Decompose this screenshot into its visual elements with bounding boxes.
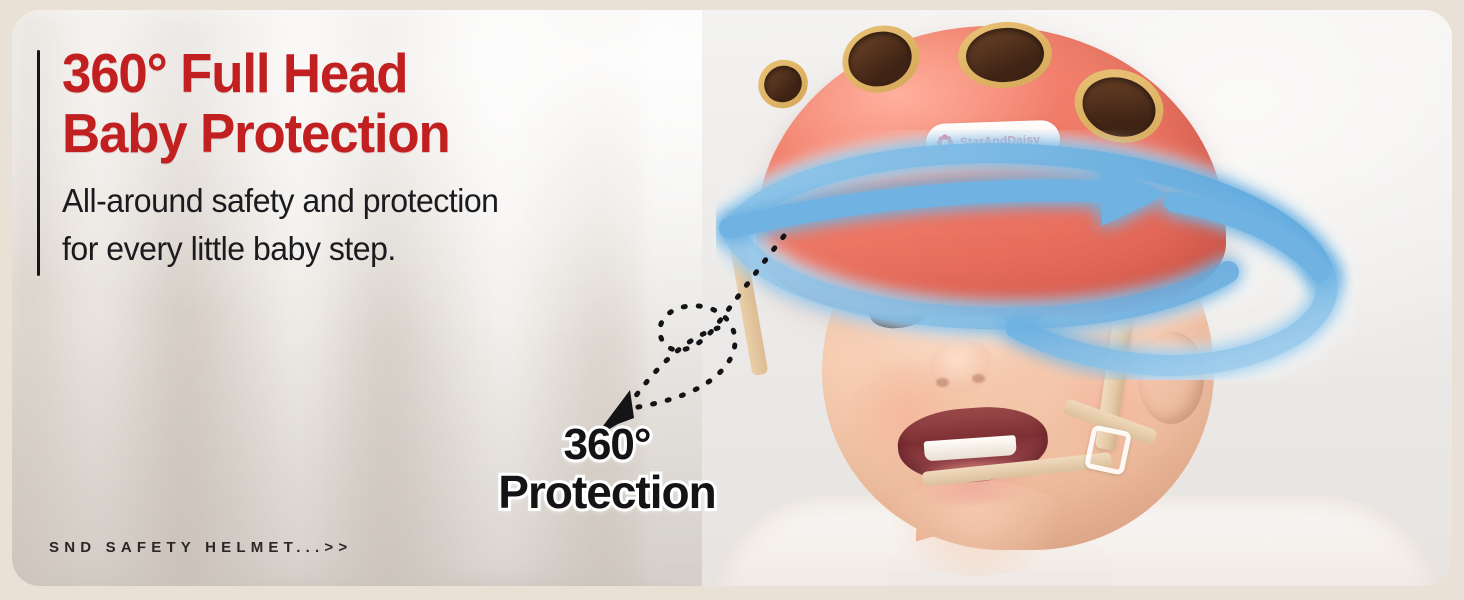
headline-line-1: 360° Full Head (62, 42, 407, 104)
protection-callout: 360° Protection (464, 424, 750, 514)
callout-line-2: Protection (464, 470, 750, 514)
dashed-loop-arrow-icon (552, 228, 812, 448)
baby-helmet-photo: StarAndDaisy (702, 10, 1452, 586)
accent-bar (37, 50, 40, 276)
headline-line-2: Baby Protection (62, 102, 450, 164)
subhead-line-1: All-around safety and protection (62, 182, 498, 219)
banner-card: StarAndDaisy (12, 10, 1452, 586)
page-title: 360° Full Head Baby Protection (62, 43, 734, 163)
baby-teeth (924, 435, 1017, 461)
promo-banner: StarAndDaisy (0, 0, 1464, 600)
subhead-line-2: for every little baby step. (62, 230, 396, 267)
callout-line-1: 360° (464, 424, 750, 466)
rotation-ring-arrow-icon (716, 130, 1356, 380)
footer-label[interactable]: SND SAFETY HELMET...>> (49, 539, 352, 556)
